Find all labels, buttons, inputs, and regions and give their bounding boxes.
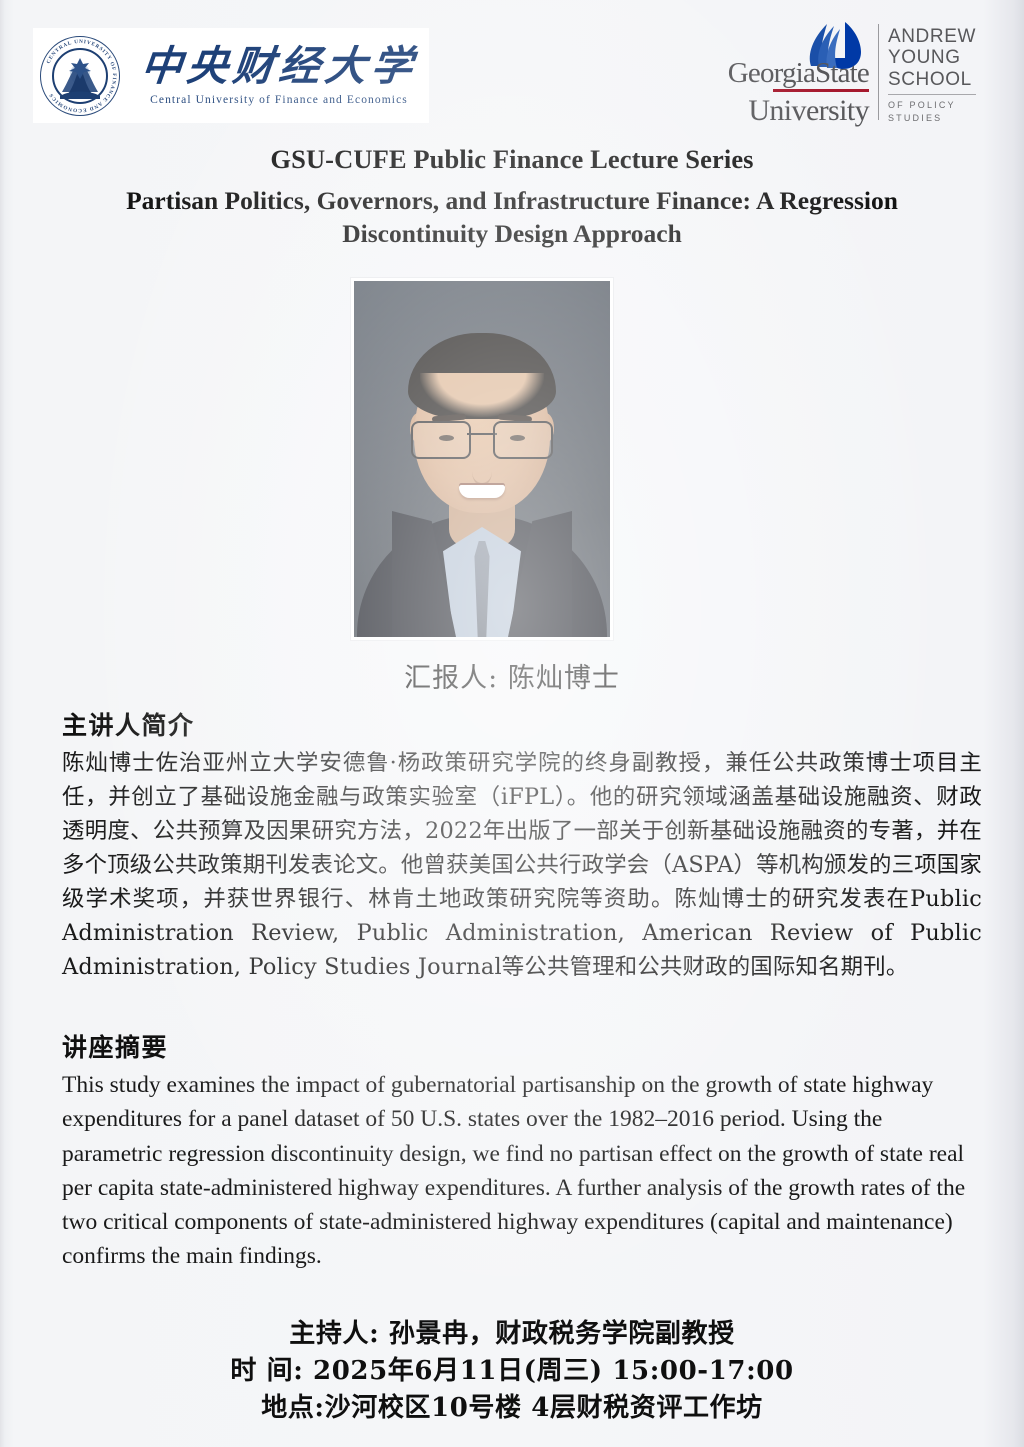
ays-sub-1: OF POLICY (888, 99, 976, 113)
cufe-seal-icon: CENTRAL UNIVERSITY OF FINANCE AND ECONOM… (39, 35, 121, 117)
lecture-title: Partisan Politics, Governors, and Infras… (40, 185, 984, 250)
event-time: 时 间: 2025年6月11日(周三) 15:00-17:00 (0, 1353, 1024, 1390)
speaker-headshot-image (354, 281, 610, 637)
ays-line-1: ANDREW (888, 26, 976, 47)
cufe-chinese-name: 中央财经大学 (127, 46, 431, 87)
event-host: 主持人: 孙景冉，财政税务学院副教授 (0, 1316, 1024, 1353)
bio-text: 陈灿博士佐治亚州立大学安德鲁·杨政策研究学院的终身副教授，兼任公共政策博士项目主… (62, 746, 982, 984)
event-location: 地点:沙河校区10号楼 4层财税资评工作坊 (0, 1390, 1024, 1427)
abstract-text: This study examines the impact of gubern… (62, 1068, 982, 1274)
event-details: 主持人: 孙景冉，财政税务学院副教授 时 间: 2025年6月11日(周三) 1… (0, 1316, 1024, 1427)
gsu-ays-logo: GeorgiaState University ANDREW YOUNG SCH… (711, 18, 976, 128)
eyeglasses-icon (411, 421, 553, 459)
presenter-line: 汇报人: 陈灿博士 (0, 656, 1024, 695)
abstract-heading: 讲座摘要 (62, 1028, 982, 1064)
gsu-name-line2: University (711, 96, 869, 126)
gsu-red-rule (773, 89, 869, 92)
ays-rule (888, 94, 976, 95)
ays-line-3: SCHOOL (888, 69, 976, 90)
ays-sub-2: STUDIES (888, 112, 976, 126)
gsu-name-line1: GeorgiaState (711, 59, 869, 88)
cufe-seal-emblem-icon (58, 52, 102, 100)
logo-row: CENTRAL UNIVERSITY OF FINANCE AND ECONOM… (0, 0, 1024, 140)
abstract-section: 讲座摘要 This study examines the impact of g… (62, 1028, 982, 1274)
gsu-logo-divider (878, 24, 879, 120)
lecture-poster: CENTRAL UNIVERSITY OF FINANCE AND ECONOM… (0, 0, 1024, 1447)
ays-line-2: YOUNG (888, 47, 976, 68)
cufe-english-name: Central University of Finance and Econom… (129, 94, 429, 106)
series-title: GSU-CUFE Public Finance Lecture Series (40, 144, 984, 175)
speaker-photo (351, 278, 613, 640)
cufe-logo: CENTRAL UNIVERSITY OF FINANCE AND ECONOM… (33, 28, 429, 123)
bio-section: 主讲人简介 陈灿博士佐治亚州立大学安德鲁·杨政策研究学院的终身副教授，兼任公共政… (62, 706, 982, 984)
title-block: GSU-CUFE Public Finance Lecture Series P… (40, 144, 984, 251)
bio-heading: 主讲人简介 (62, 706, 982, 742)
